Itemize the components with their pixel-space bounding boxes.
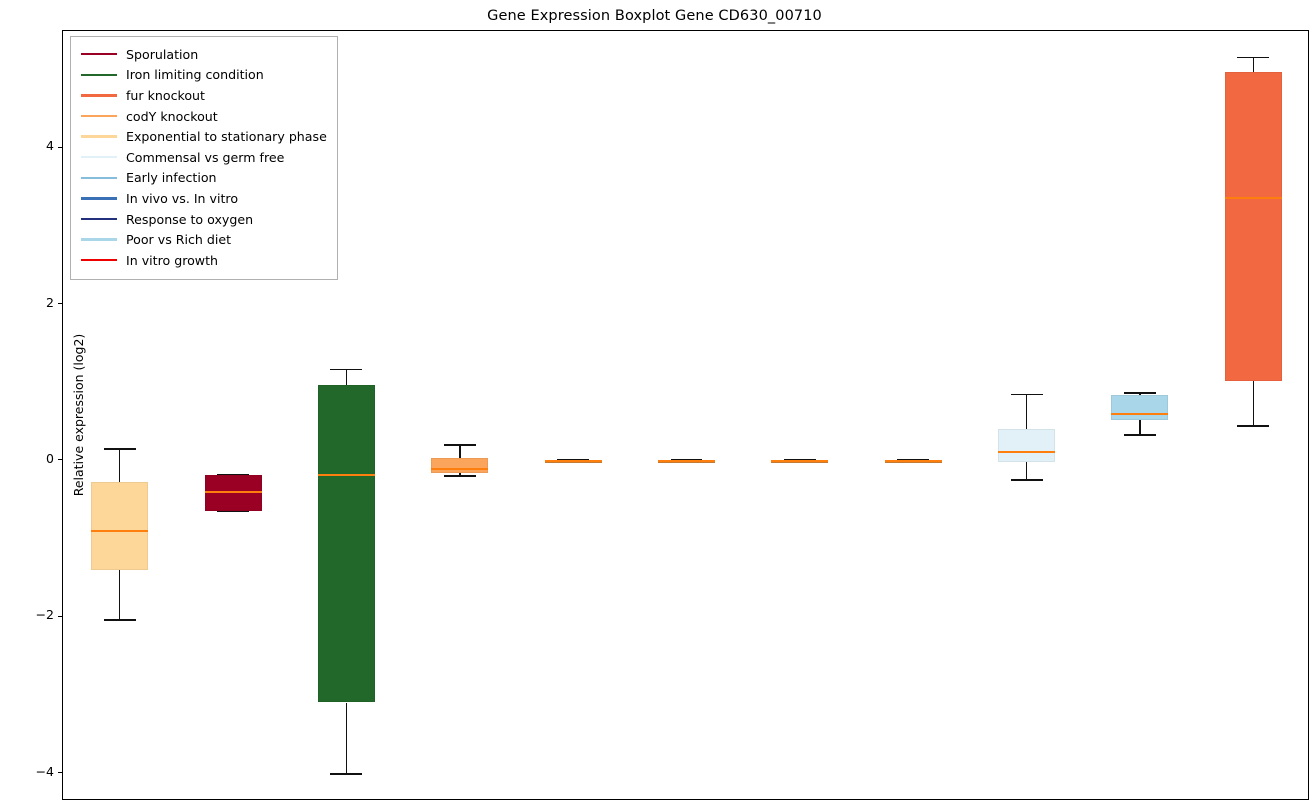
median-line xyxy=(318,474,375,476)
whisker-lower xyxy=(346,703,348,774)
legend-label: Sporulation xyxy=(126,47,198,62)
median-line xyxy=(205,491,262,493)
legend-label: Iron limiting condition xyxy=(126,67,264,82)
legend-label: Commensal vs germ free xyxy=(126,150,284,165)
boxplot-box-5[interactable] xyxy=(658,31,715,799)
legend-color-swatch-icon xyxy=(81,218,117,220)
box-body[interactable] xyxy=(91,482,148,570)
boxplot-box-10[interactable] xyxy=(1225,31,1282,799)
legend-item-1[interactable]: Iron limiting condition xyxy=(77,65,327,86)
figure-canvas: Gene Expression Boxplot Gene CD630_00710… xyxy=(0,0,1309,812)
boxplot-box-4[interactable] xyxy=(545,31,602,799)
box-body[interactable] xyxy=(1225,72,1282,382)
legend-item-2[interactable]: fur knockout xyxy=(77,85,327,106)
legend-label: Response to oxygen xyxy=(126,212,253,227)
whisker-upper xyxy=(1026,395,1028,429)
legend-color-swatch-icon xyxy=(81,156,117,158)
legend-color-swatch-icon xyxy=(81,94,117,96)
whisker-cap-upper xyxy=(1237,57,1269,59)
whisker-cap-lower xyxy=(1011,479,1043,481)
whisker-upper xyxy=(119,449,121,482)
legend-item-3[interactable]: codY knockout xyxy=(77,106,327,127)
legend-item-4[interactable]: Exponential to stationary phase xyxy=(77,126,327,147)
legend-color-swatch-icon xyxy=(81,115,117,117)
legend-item-10[interactable]: In vitro growth xyxy=(77,250,327,271)
legend-item-9[interactable]: Poor vs Rich diet xyxy=(77,229,327,250)
whisker-cap-lower xyxy=(1237,425,1269,427)
box-body[interactable] xyxy=(318,385,375,702)
legend-label: fur knockout xyxy=(126,88,205,103)
legend-label: Exponential to stationary phase xyxy=(126,129,327,144)
y-tick-mark xyxy=(58,459,62,460)
legend-color-swatch-icon xyxy=(81,259,117,261)
whisker-cap-lower xyxy=(104,619,136,621)
legend-color-swatch-icon xyxy=(81,238,117,240)
chart-title: Gene Expression Boxplot Gene CD630_00710 xyxy=(0,8,1309,24)
median-line xyxy=(1225,197,1282,199)
whisker-lower xyxy=(1026,462,1028,480)
y-tick-label: 0 xyxy=(46,451,54,466)
legend-item-8[interactable]: Response to oxygen xyxy=(77,209,327,230)
legend-color-swatch-icon xyxy=(81,135,117,137)
whisker-cap-lower xyxy=(1124,434,1156,436)
box-body[interactable] xyxy=(998,429,1055,462)
boxplot-box-3[interactable] xyxy=(431,31,488,799)
y-tick-label: 4 xyxy=(46,138,54,153)
median-line xyxy=(1111,413,1168,415)
legend-label: In vitro growth xyxy=(126,253,218,268)
box-body[interactable] xyxy=(431,458,488,473)
legend-color-swatch-icon xyxy=(81,177,117,179)
y-tick-mark xyxy=(58,303,62,304)
median-line xyxy=(771,460,828,462)
whisker-cap-upper xyxy=(444,444,476,446)
whisker-cap-lower xyxy=(330,773,362,775)
whisker-lower xyxy=(1253,381,1255,426)
whisker-lower xyxy=(1139,420,1141,436)
legend-color-swatch-icon xyxy=(81,197,117,199)
box-body[interactable] xyxy=(1111,395,1168,420)
boxplot-box-8[interactable] xyxy=(998,31,1055,799)
median-line xyxy=(91,530,148,532)
median-line xyxy=(431,468,488,470)
whisker-lower xyxy=(119,570,121,619)
y-tick-mark xyxy=(58,616,62,617)
y-axis-label-holder: Relative expression (log2) xyxy=(0,30,22,800)
whisker-upper xyxy=(346,369,348,385)
legend-color-swatch-icon xyxy=(81,53,117,55)
y-tick-mark xyxy=(58,147,62,148)
y-tick-label: 2 xyxy=(46,295,54,310)
y-tick-mark xyxy=(58,772,62,773)
whisker-upper xyxy=(1253,58,1255,72)
boxplot-box-7[interactable] xyxy=(885,31,942,799)
whisker-upper xyxy=(459,445,461,458)
legend-label: Early infection xyxy=(126,170,217,185)
legend-label: codY knockout xyxy=(126,109,218,124)
legend-label: Poor vs Rich diet xyxy=(126,232,231,247)
median-line xyxy=(658,460,715,462)
boxplot-box-9[interactable] xyxy=(1111,31,1168,799)
chart-legend[interactable]: SporulationIron limiting conditionfur kn… xyxy=(70,36,338,280)
legend-item-5[interactable]: Commensal vs germ free xyxy=(77,147,327,168)
legend-item-0[interactable]: Sporulation xyxy=(77,44,327,65)
legend-item-6[interactable]: Early infection xyxy=(77,168,327,189)
y-tick-label: −4 xyxy=(36,764,54,779)
whisker-cap-lower xyxy=(444,475,476,477)
legend-item-7[interactable]: In vivo vs. In vitro xyxy=(77,188,327,209)
whisker-cap-upper xyxy=(330,369,362,371)
median-line xyxy=(885,460,942,462)
median-line xyxy=(998,451,1055,453)
whisker-cap-upper xyxy=(104,448,136,450)
legend-color-swatch-icon xyxy=(81,74,117,76)
boxplot-box-6[interactable] xyxy=(771,31,828,799)
median-line xyxy=(545,460,602,462)
y-tick-label: −2 xyxy=(36,607,54,622)
whisker-cap-upper xyxy=(1011,394,1043,396)
legend-label: In vivo vs. In vitro xyxy=(126,191,238,206)
